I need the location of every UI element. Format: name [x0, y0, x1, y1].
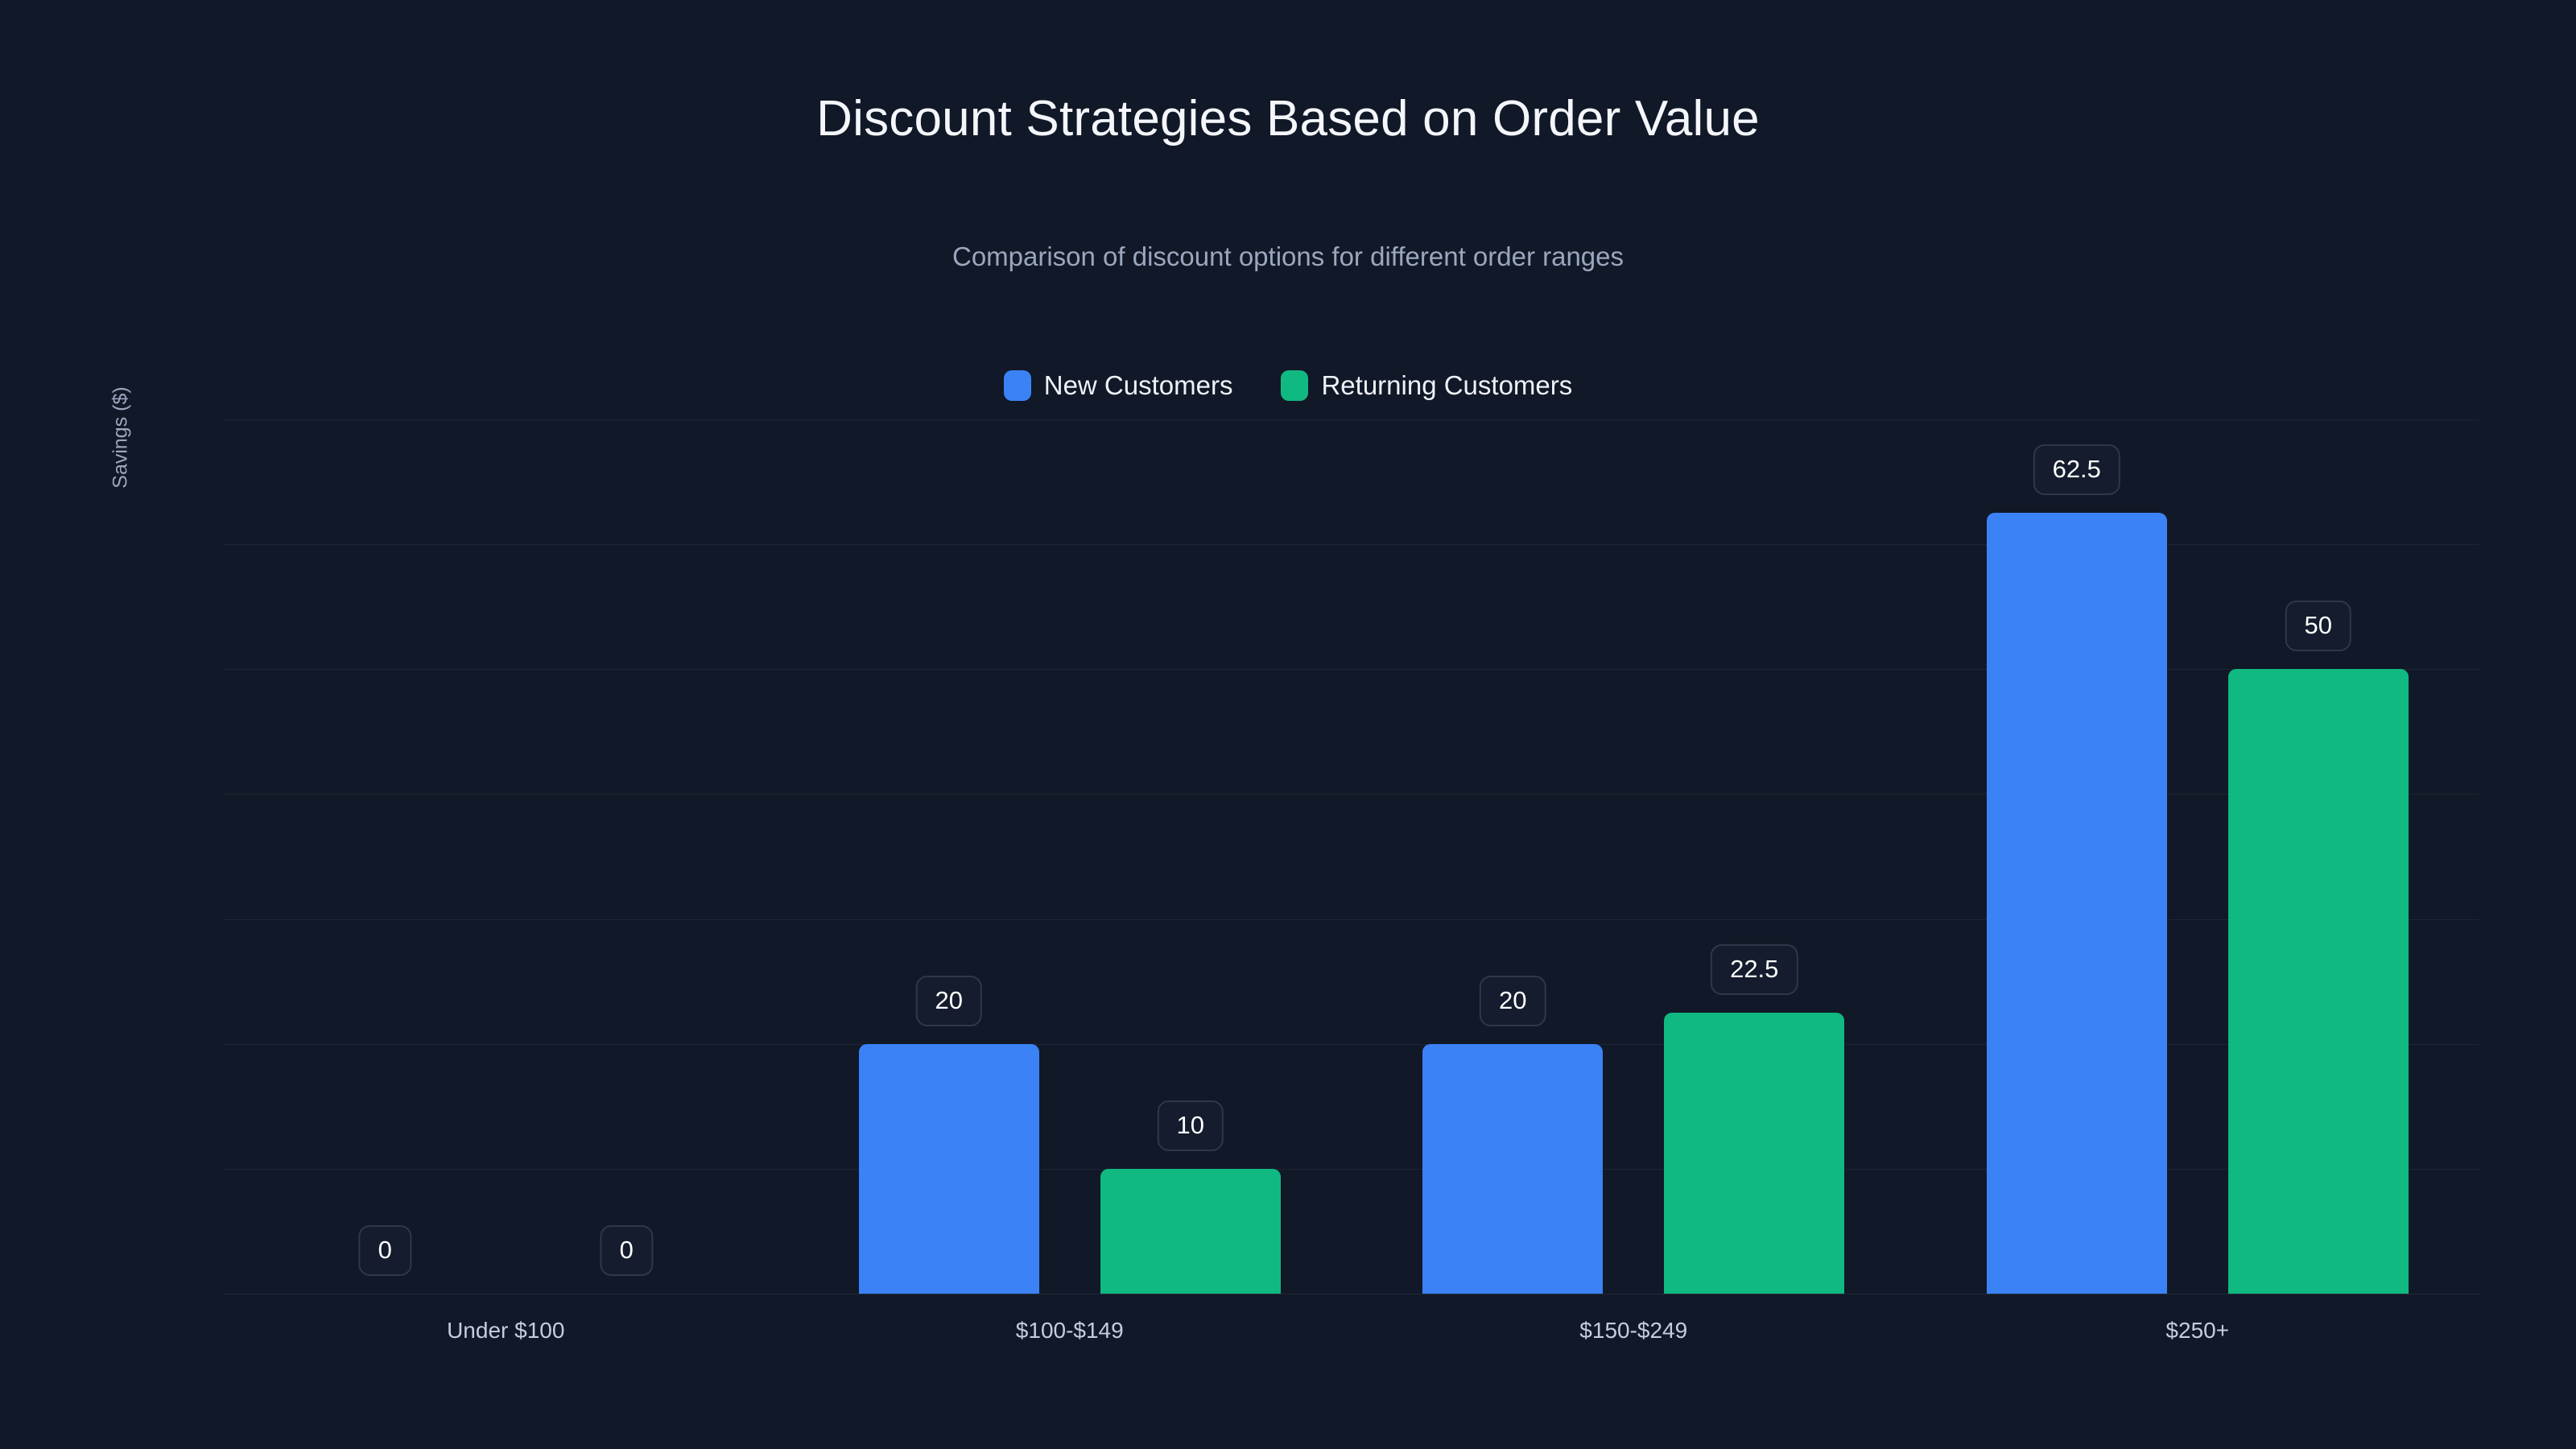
chart-subtitle: Comparison of discount options for diffe…	[0, 242, 2576, 272]
legend-label: Returning Customers	[1321, 370, 1572, 401]
legend-swatch-icon	[1281, 370, 1308, 401]
gridline	[224, 419, 2479, 420]
bar-value-label: 50	[2285, 601, 2351, 651]
x-axis-tick-label: $250+	[2165, 1318, 2229, 1344]
x-axis-tick-label: $150-$249	[1579, 1318, 1687, 1344]
chart-legend: New Customers Returning Customers	[0, 370, 2576, 401]
chart-canvas: Discount Strategies Based on Order Value…	[0, 0, 2576, 1449]
bar[interactable]	[1100, 1169, 1281, 1294]
bar-value-label: 10	[1158, 1100, 1224, 1151]
x-axis-tick-label: $100-$149	[1016, 1318, 1124, 1344]
bar-value-label: 0	[601, 1225, 653, 1276]
bar[interactable]	[2228, 669, 2409, 1294]
legend-swatch-icon	[1004, 370, 1031, 401]
bar-value-label: 0	[359, 1225, 411, 1276]
bar[interactable]	[1987, 513, 2167, 1294]
bar[interactable]	[1422, 1044, 1603, 1294]
x-axis-tick-label: Under $100	[447, 1318, 564, 1344]
bar-value-label: 20	[916, 976, 982, 1026]
legend-label: New Customers	[1044, 370, 1233, 401]
y-axis-title-text: Savings ($)	[109, 386, 133, 488]
bar[interactable]	[1664, 1013, 1844, 1294]
bar-value-label: 62.5	[2033, 444, 2120, 495]
plot-area: 010203040506070 0020102022.562.550 Under…	[224, 419, 2479, 1294]
legend-item-returning-customers[interactable]: Returning Customers	[1281, 370, 1572, 401]
bar-value-label: 22.5	[1711, 944, 1798, 995]
legend-item-new-customers[interactable]: New Customers	[1004, 370, 1233, 401]
bar[interactable]	[859, 1044, 1039, 1294]
page-title: Discount Strategies Based on Order Value	[0, 90, 2576, 147]
gridline	[224, 1294, 2479, 1294]
bar-value-label: 20	[1480, 976, 1546, 1026]
